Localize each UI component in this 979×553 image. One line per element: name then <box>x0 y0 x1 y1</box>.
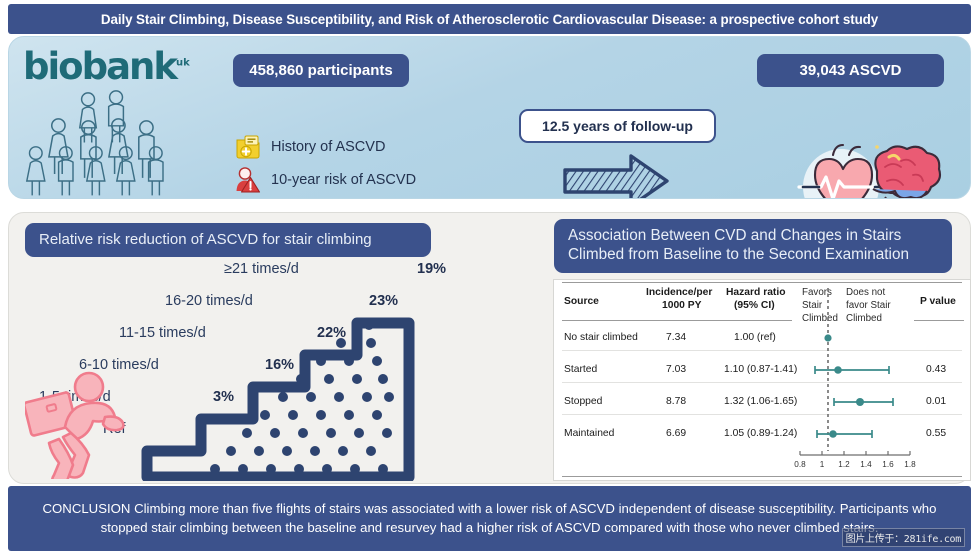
exposure-item-genetic-risk: Genetic risk score of CAD/IS <box>234 198 456 199</box>
axis-tick-2: 1.2 <box>834 460 854 469</box>
axis-tick-3: 1.4 <box>856 460 876 469</box>
col-header-hr-line2: (95% CI) <box>734 300 775 313</box>
forest-plot-axis: 0.8 1 1.2 1.4 1.6 1.8 <box>792 448 928 478</box>
cell-hr-3: 1.05 (0.89-1.24) <box>724 428 797 440</box>
table-rule-bottom <box>562 476 962 477</box>
table-rule-top <box>562 282 962 283</box>
stair-pct-11-15: 22% <box>317 325 346 341</box>
heart-brain-icon <box>781 139 953 199</box>
left-section-heading: Relative risk reduction of ASCVD for sta… <box>25 223 431 257</box>
right-section-heading-label: Association Between CVD and Changes in S… <box>568 227 938 264</box>
biobank-logo-sup: uk <box>176 58 190 69</box>
marker-maintained <box>829 430 837 438</box>
exposure-item-10yr-risk-label: 10-year risk of ASCVD <box>271 172 416 188</box>
cell-pvalue-2: 0.01 <box>926 396 946 408</box>
col-header-source: Source <box>564 296 599 309</box>
forest-plot-table-card: Source Incidence/per 1000 PY Hazard rati… <box>553 279 971 481</box>
axis-tick-0: 0.8 <box>790 460 810 469</box>
table-rule-header-right <box>914 320 964 321</box>
cell-source-0: No stair climbed <box>564 332 638 344</box>
dna-helix-icon <box>234 198 262 199</box>
exposure-item-10yr-risk: 10-year risk of ASCVD <box>234 166 416 194</box>
followup-duration-label: 12.5 years of follow-up <box>542 118 693 134</box>
marker-ref <box>824 334 831 341</box>
folder-plus-icon <box>234 133 262 161</box>
ci-maintained <box>817 430 872 438</box>
staircase-chart: Ref 1-5 times/d 6-10 times/d 11-15 times… <box>25 261 435 481</box>
person-warning-icon <box>234 166 262 194</box>
ascvd-events-stat-pill: 39,043 ASCVD <box>757 54 944 87</box>
cell-incidence-0: 7.34 <box>666 332 686 344</box>
biobank-logo: biobankuk <box>23 45 198 89</box>
marker-stopped <box>856 398 864 406</box>
stair-label-16-20: 16-20 times/d <box>165 293 253 309</box>
stair-pct-1-5: 3% <box>213 389 234 405</box>
right-section-heading: Association Between CVD and Changes in S… <box>554 219 952 273</box>
stair-label-21plus: ≥21 times/d <box>224 261 299 277</box>
stair-pct-21plus: 19% <box>417 261 446 277</box>
conclusion-banner: CONCLUSION Climbing more than five fligh… <box>8 486 971 551</box>
cell-source-3: Maintained <box>564 428 614 440</box>
participants-stat-pill: 458,860 participants <box>233 54 409 87</box>
cell-hr-1: 1.10 (0.87-1.41) <box>724 364 797 376</box>
table-rule-header-left <box>562 320 792 321</box>
cell-pvalue-3: 0.55 <box>926 428 946 440</box>
page-title-bar: Daily Stair Climbing, Disease Susceptibi… <box>8 4 971 34</box>
left-section-heading-label: Relative risk reduction of ASCVD for sta… <box>39 231 372 249</box>
cell-incidence-2: 8.78 <box>666 396 686 408</box>
stair-label-11-15: 11-15 times/d <box>119 325 206 341</box>
stair-pct-16-20: 23% <box>369 293 398 309</box>
cohort-overview-panel: biobankuk <box>8 36 971 199</box>
exposure-item-history: History of ASCVD <box>234 133 385 161</box>
ci-started <box>815 366 889 374</box>
exposure-item-history-label: History of ASCVD <box>271 139 385 155</box>
page-title: Daily Stair Climbing, Disease Susceptibi… <box>101 12 878 27</box>
running-person-icon <box>25 361 143 479</box>
cell-hr-0: 1.00 (ref) <box>734 332 776 344</box>
forest-plot-area <box>800 288 918 451</box>
cell-incidence-3: 6.69 <box>666 428 686 440</box>
cell-hr-2: 1.32 (1.06-1.65) <box>724 396 797 408</box>
followup-duration-pill: 12.5 years of follow-up <box>519 109 716 143</box>
biobank-logo-text: biobank <box>23 45 176 88</box>
right-arrow-icon <box>561 150 671 199</box>
participants-stat-label: 458,860 participants <box>249 62 392 79</box>
col-header-incidence-line1: Incidence/per <box>646 287 712 300</box>
axis-tick-5: 1.8 <box>900 460 920 469</box>
col-header-pvalue: P value <box>920 296 956 309</box>
ascvd-events-label: 39,043 ASCVD <box>800 62 902 79</box>
infographic-root: Daily Stair Climbing, Disease Susceptibi… <box>0 0 979 553</box>
col-header-hr-line1: Hazard ratio <box>726 287 786 300</box>
col-header-incidence-line2: 1000 PY <box>662 300 702 313</box>
people-group-illustration <box>19 89 194 197</box>
cell-source-1: Started <box>564 364 597 376</box>
cell-incidence-1: 7.03 <box>666 364 686 376</box>
cell-source-2: Stopped <box>564 396 602 408</box>
conclusion-text: CONCLUSION Climbing more than five fligh… <box>30 500 949 537</box>
cell-pvalue-1: 0.43 <box>926 364 946 376</box>
marker-started <box>834 366 842 374</box>
axis-tick-1: 1 <box>812 460 832 469</box>
stair-pct-6-10: 16% <box>265 357 294 373</box>
forest-plot-table: Source Incidence/per 1000 PY Hazard rati… <box>554 280 970 480</box>
axis-tick-4: 1.6 <box>878 460 898 469</box>
watermark: 图片上传于：281ife.com <box>842 528 965 547</box>
